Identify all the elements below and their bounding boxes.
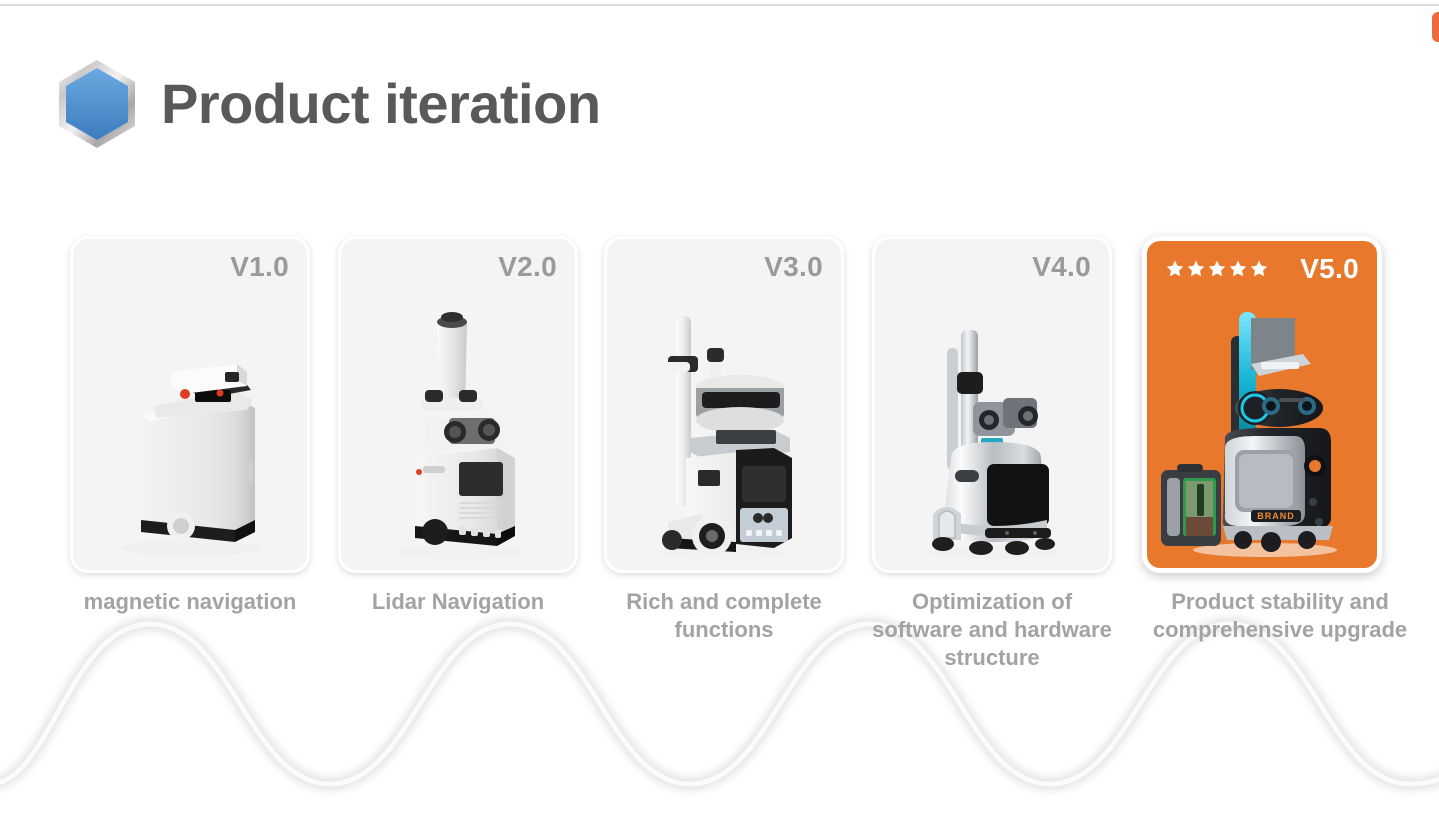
product-card-v5[interactable]: V5.0 xyxy=(1142,236,1382,573)
slide-header: Product iteration xyxy=(55,58,601,150)
version-label-v1: V1.0 xyxy=(230,253,289,281)
star-icon xyxy=(1186,259,1206,279)
card-body-v3[interactable]: V3.0 xyxy=(604,236,844,573)
card-topbar-v2: V2.0 xyxy=(341,253,575,281)
card-body-v5[interactable]: V5.0 xyxy=(1142,236,1382,573)
card-topbar-v4: V4.0 xyxy=(875,253,1109,281)
svg-text:BRAND: BRAND xyxy=(1257,511,1295,521)
card-caption-v1: magnetic navigation xyxy=(70,588,310,616)
star-icon xyxy=(1249,259,1269,279)
version-label-v2: V2.0 xyxy=(498,253,557,281)
product-iteration-cards: V1.0 xyxy=(0,236,1439,666)
star-rating-v5 xyxy=(1165,259,1269,279)
card-caption-v5: Product stability and comprehensive upgr… xyxy=(1130,588,1430,644)
star-icon xyxy=(1228,259,1248,279)
robot-v5-icon: BRAND xyxy=(1147,281,1377,568)
version-label-v4: V4.0 xyxy=(1032,253,1091,281)
page-title: Product iteration xyxy=(161,76,601,132)
robot-v2-icon xyxy=(341,279,575,570)
corner-accent-marker xyxy=(1432,12,1439,42)
product-card-v2[interactable]: V2.0 xyxy=(338,236,578,573)
product-card-v3[interactable]: V3.0 xyxy=(604,236,844,573)
robot-v3-icon xyxy=(607,279,841,570)
product-card-v4[interactable]: V4.0 xyxy=(872,236,1112,573)
robot-v4-icon xyxy=(875,279,1109,570)
card-body-v2[interactable]: V2.0 xyxy=(338,236,578,573)
card-body-v4[interactable]: V4.0 xyxy=(872,236,1112,573)
hexagon-icon xyxy=(55,58,139,150)
top-divider-rule xyxy=(0,4,1439,6)
robot-v1-icon xyxy=(73,279,307,570)
product-card-v1[interactable]: V1.0 xyxy=(70,236,310,573)
version-label-v3: V3.0 xyxy=(764,253,823,281)
card-body-v1[interactable]: V1.0 xyxy=(70,236,310,573)
star-icon xyxy=(1207,259,1227,279)
card-topbar-v1: V1.0 xyxy=(73,253,307,281)
card-caption-v3: Rich and complete functions xyxy=(604,588,844,644)
star-icon xyxy=(1165,259,1185,279)
card-topbar-v3: V3.0 xyxy=(607,253,841,281)
card-caption-v2: Lidar Navigation xyxy=(338,588,578,616)
card-caption-v4: Optimization of software and hardware st… xyxy=(872,588,1112,672)
